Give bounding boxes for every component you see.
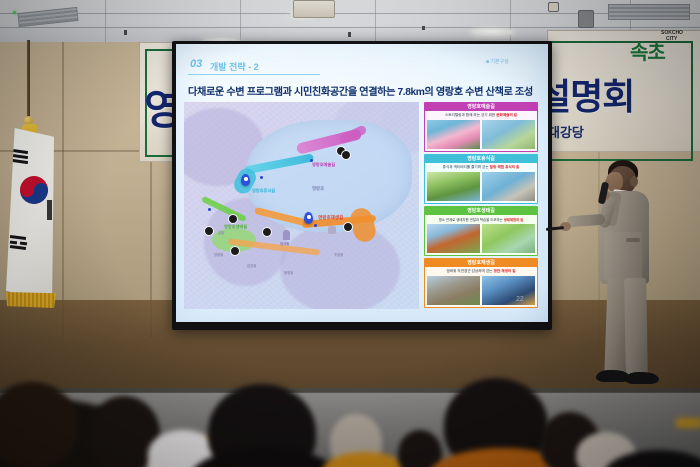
ceiling-speaker	[578, 10, 594, 28]
program-card-rest[interactable]: 영랑호휴식길 휴식과 액티비티를 즐기며 걷는 힐링·체험 휴식의 길	[424, 154, 538, 204]
photo-scene: 영 속초 SOKCHO CITY 설명회 대강당 03 개발 전략 - 2 ■ …	[0, 0, 700, 467]
card-title-rest: 영랑호휴식길	[425, 155, 537, 163]
trail-label-eco: 영랑호생태길	[224, 224, 247, 230]
card-photo-art-2	[482, 120, 535, 149]
presenter-ear	[630, 176, 638, 187]
card-title-eco: 영랑호생태길	[425, 207, 537, 215]
map-pin[interactable]	[241, 174, 250, 186]
trail-label-regen: 영랑호재생길	[318, 215, 343, 221]
slide-corner-tag: ■ 기본구상	[486, 58, 509, 65]
map-spot-label: 장사동	[280, 241, 289, 246]
sokcho-city-logo: 속초	[630, 36, 665, 65]
card-desc-rest: 휴식과 액티비티를 즐기며 걷는 힐링·체험 휴식의 길	[425, 165, 537, 170]
ceiling-fixture	[548, 2, 559, 12]
ceiling-vent	[608, 4, 690, 20]
ceiling-projector	[293, 0, 335, 18]
card-desc-plain: 휴식과 액티비티를 즐기며 걷는	[443, 165, 490, 169]
map-spot-label: 금호동	[247, 263, 256, 268]
card-photo-regen-2	[482, 276, 535, 305]
slide-eyebrow-text: 개발 전략 - 2	[210, 60, 259, 73]
presenter-leg-front	[624, 278, 648, 376]
program-card-art[interactable]: 영랑호예술길 스토리텔링과 함께 하는 걷기 위한 문화예술의 길	[424, 102, 538, 152]
card-desc-eco: 명소 연계로 생태자원 관찰과 학습을 도모하는 생태체험의 길	[425, 217, 537, 222]
card-desc-highlight: 힐링·체험 휴식의 길	[490, 165, 520, 169]
ceiling-tile-line	[105, 0, 106, 42]
map-dot	[310, 159, 313, 162]
card-desc-plain: 명소 연계로 생태자원 관찰과 학습을 도모하는	[439, 218, 504, 222]
card-desc-plain: 스토리텔링과 함께 하는 걷기 위한	[445, 113, 496, 117]
card-photo-rest-1	[427, 172, 480, 201]
map-dot	[260, 176, 263, 179]
banner-main-text: 설명회	[538, 68, 634, 120]
map-spot-label: 영랑동	[214, 252, 223, 257]
card-title-art: 영랑호예술길	[425, 103, 537, 111]
site-map: 영랑호 영랑호예술길 영랑호휴식길 영랑호생태길 영랑호재생길	[184, 102, 419, 309]
ceiling-tile-line	[375, 0, 376, 42]
ceiling-tile-line	[510, 0, 511, 42]
presenter-pocket	[626, 238, 640, 242]
program-cards-panel: 영랑호예술길 스토리텔링과 함께 하는 걷기 위한 문화예술의 길 영랑호휴식길…	[424, 102, 536, 308]
map-marker[interactable]	[343, 222, 353, 232]
card-photo-eco-2	[482, 224, 535, 253]
floor-baseboard	[0, 388, 700, 393]
map-pin[interactable]	[304, 212, 313, 224]
map-landmark	[283, 230, 290, 240]
map-marker[interactable]	[204, 226, 214, 236]
banner-sub-text: 대강당	[548, 122, 584, 141]
card-desc-highlight: 생태체험의 길	[504, 218, 524, 222]
map-marker[interactable]	[228, 214, 238, 224]
flag-trigram-bar	[20, 242, 27, 245]
ceiling-light	[470, 28, 516, 37]
program-card-eco[interactable]: 영랑호생태길 명소 연계로 생태자원 관찰과 학습을 도모하는 생태체험의 길	[424, 206, 538, 256]
presenter-shoe-front	[625, 372, 659, 384]
card-desc-plain: 범바위 자연경관 감상하며 걷는	[446, 269, 493, 273]
map-dot	[208, 208, 211, 211]
sokcho-logo-en-line2: CITY	[666, 37, 677, 42]
projection-screen[interactable]: 03 개발 전략 - 2 ■ 기본구상 다채로운 수변 프로그램과 시민친화공간…	[176, 44, 548, 322]
ceiling-sensor	[422, 26, 425, 30]
map-spot-label: 교동	[218, 230, 224, 235]
slide-title: 다채로운 수변 프로그램과 시민친화공간을 연결하는 7.8km의 영랑호 수변…	[188, 83, 533, 98]
status-led	[13, 11, 16, 14]
card-desc-regen: 범바위 자연경관 감상하며 걷는 경관·재생의 길	[425, 269, 537, 274]
eyebrow-rule	[188, 74, 320, 75]
flag-trigram-bar	[10, 245, 26, 249]
flag-trigram-bar	[10, 241, 17, 244]
map-marker[interactable]	[230, 246, 240, 256]
ceiling-sensor	[124, 30, 127, 35]
trail-label-art: 영랑호예술길	[312, 162, 335, 168]
flag-trigram-bar	[12, 159, 28, 164]
flag-fringe	[6, 292, 56, 308]
flag-taeguk	[20, 176, 48, 204]
flag-trigram-bar	[12, 149, 28, 154]
flag-trigram-bar	[12, 154, 28, 159]
card-desc-highlight: 문화예술의 길	[496, 113, 517, 117]
trail-label-rest: 영랑호휴식길	[252, 188, 275, 194]
map-marker[interactable]	[341, 150, 351, 160]
flag-pole	[27, 40, 30, 120]
slide-eyebrow-number: 03	[190, 58, 202, 70]
lake-label: 영랑호	[312, 186, 324, 192]
card-title-regen: 영랑호재생길	[425, 259, 537, 267]
flag-trigram-bar	[47, 200, 52, 220]
map-spot-label: 동명동	[284, 270, 293, 275]
card-photo-regen-1	[427, 276, 480, 305]
card-desc-highlight: 경관·재생의 길	[493, 269, 515, 273]
card-photo-eco-1	[427, 224, 480, 253]
card-photo-art-1	[427, 120, 480, 149]
ceiling-sensor	[348, 32, 351, 37]
map-marker[interactable]	[262, 227, 272, 237]
card-desc-art: 스토리텔링과 함께 하는 걷기 위한 문화예술의 길	[425, 113, 537, 118]
map-dot	[314, 224, 317, 227]
card-photo-rest-2	[482, 172, 535, 201]
map-spot-label: 조양동	[334, 252, 343, 257]
slide-page-number: 22	[516, 296, 524, 303]
wall-seam	[62, 38, 64, 338]
map-landmark	[328, 226, 336, 234]
audience-chair-accent	[676, 418, 700, 428]
flag-trigram-bar	[10, 235, 26, 239]
ceiling-tile-line	[240, 0, 241, 42]
